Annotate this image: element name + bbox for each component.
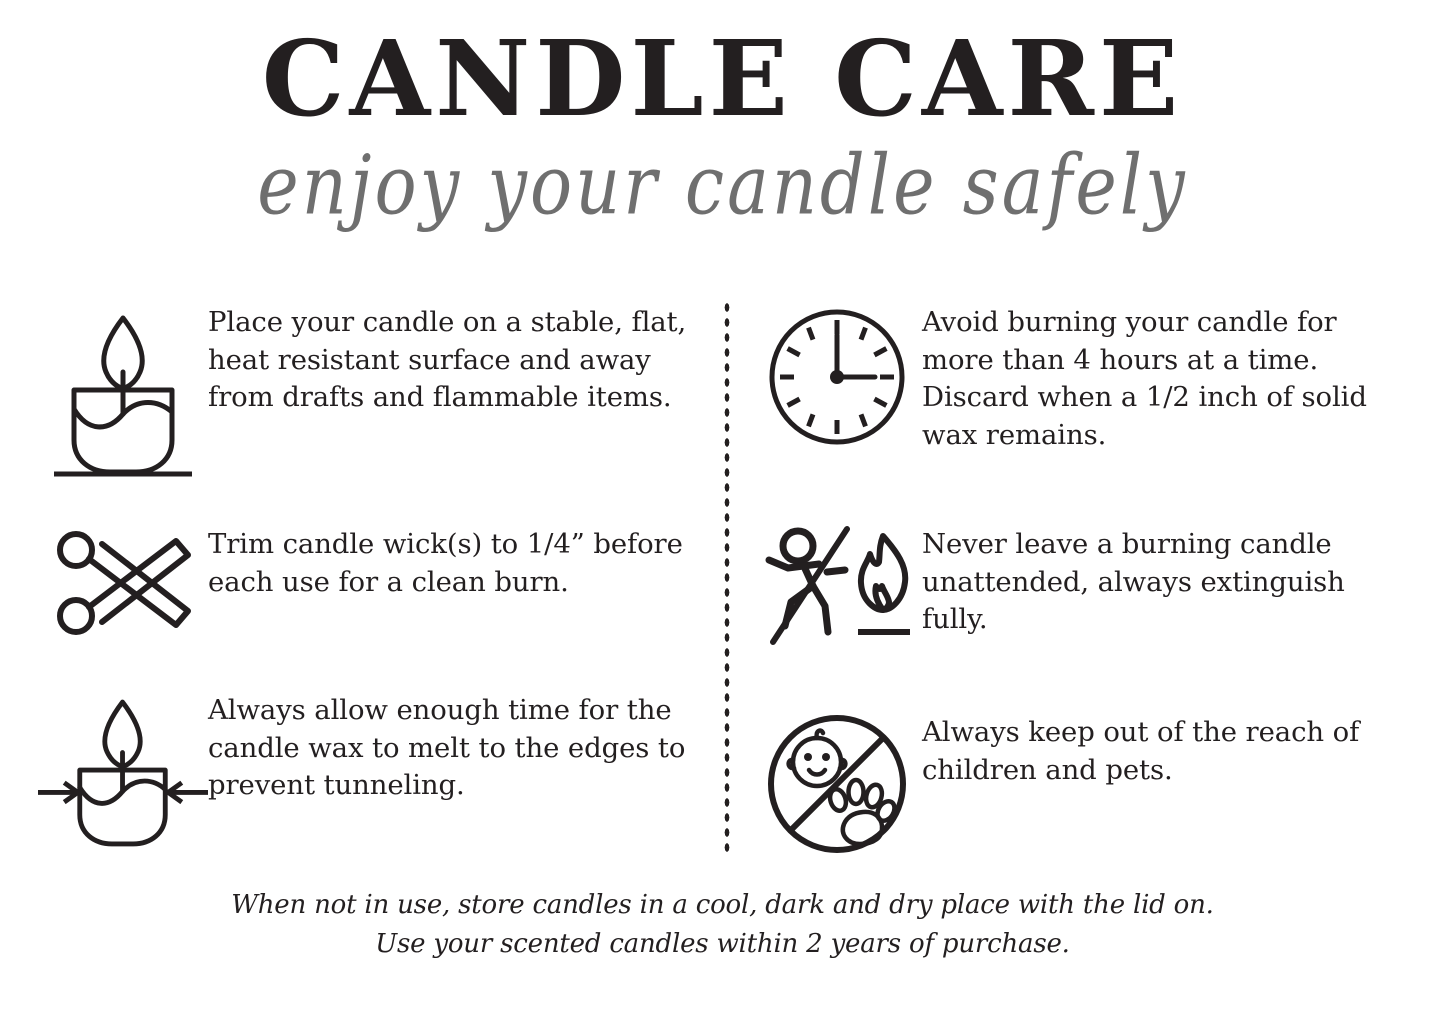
- tips-area: Place your candle on a stable, flat, hea…: [0, 292, 1445, 857]
- tip-item: Always allow enough time for the candle …: [38, 690, 698, 855]
- tip-item: Never leave a burning candle unattended,…: [752, 524, 1412, 649]
- clock-icon: [752, 302, 922, 452]
- tip-item: Trim candle wick(s) to 1/4” before each …: [38, 524, 698, 644]
- tip-item: Always keep out of the reach of children…: [752, 712, 1412, 857]
- tip-item: Avoid burning your candle for more than …: [752, 302, 1412, 454]
- no-children-or-pets-icon: [752, 712, 922, 857]
- vertical-dotted-divider: [723, 300, 731, 858]
- card-header: CANDLE CARE enjoy your candle safely: [0, 0, 1445, 222]
- footer-line-2: Use your scented candles within 2 years …: [0, 925, 1445, 964]
- no-running-near-fire-icon: [752, 524, 922, 649]
- tip-text: Always keep out of the reach of children…: [922, 712, 1412, 789]
- scissors-icon: [38, 524, 208, 644]
- candle-on-flat-surface-icon: [38, 302, 208, 477]
- tip-text: Avoid burning your candle for more than …: [922, 302, 1412, 454]
- tip-text: Never leave a burning candle unattended,…: [922, 524, 1412, 639]
- tip-text: Trim candle wick(s) to 1/4” before each …: [208, 524, 698, 601]
- card-footer: When not in use, store candles in a cool…: [0, 886, 1445, 964]
- page-title: CANDLE CARE: [0, 0, 1445, 132]
- tip-text: Always allow enough time for the candle …: [208, 690, 698, 805]
- candle-care-card: CANDLE CARE enjoy your candle safely: [0, 0, 1445, 1012]
- tip-item: Place your candle on a stable, flat, hea…: [38, 302, 698, 477]
- tip-text: Place your candle on a stable, flat, hea…: [208, 302, 698, 417]
- page-subtitle: enjoy your candle safely: [0, 132, 1445, 238]
- candle-melt-to-edges-icon: [38, 690, 208, 855]
- footer-line-1: When not in use, store candles in a cool…: [0, 886, 1445, 925]
